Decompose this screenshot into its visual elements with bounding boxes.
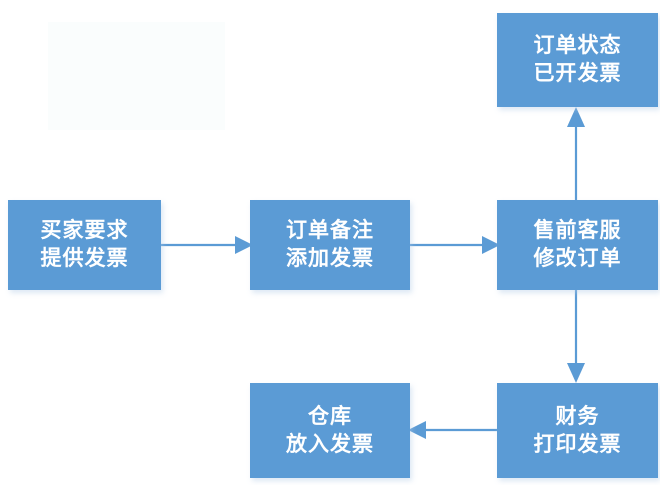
node-label-line-1: 买家要求 (41, 217, 129, 245)
node-label-line-2: 打印发票 (534, 431, 622, 459)
node-label-line-2: 已开发票 (534, 60, 622, 88)
node-label-line-2: 放入发票 (286, 431, 374, 459)
node-order-status[interactable]: 订单状态 已开发票 (497, 13, 658, 107)
node-label-line-1: 订单状态 (534, 32, 622, 60)
node-finance-print[interactable]: 财务 打印发票 (497, 383, 658, 478)
node-label-line-2: 添加发票 (286, 245, 374, 273)
arrowhead-up-icon (567, 107, 585, 127)
node-warehouse-insert[interactable]: 仓库 放入发票 (250, 383, 410, 478)
node-label-line-1: 售前客服 (534, 217, 622, 245)
connector-buyer-to-order-note (161, 233, 253, 257)
node-label-line-1: 财务 (556, 403, 600, 431)
node-order-note[interactable]: 订单备注 添加发票 (250, 200, 410, 290)
connector-presale-to-order-status (565, 105, 587, 202)
flowchart-canvas: 买家要求 提供发票 订单备注 添加发票 售前客服 修改订单 订单状态 已开发票 … (0, 0, 660, 485)
blank-placeholder-panel (48, 22, 225, 130)
node-label-line-2: 修改订单 (534, 245, 622, 273)
node-label-line-1: 仓库 (308, 403, 352, 431)
node-label-line-2: 提供发票 (41, 245, 129, 273)
arrowhead-left-icon (408, 421, 426, 439)
node-label-line-1: 订单备注 (286, 217, 374, 245)
node-presale-service[interactable]: 售前客服 修改订单 (497, 200, 658, 290)
connector-order-note-to-presale (410, 233, 500, 257)
connector-presale-to-finance (565, 289, 587, 385)
arrowhead-down-icon (567, 363, 585, 383)
connector-finance-to-warehouse (408, 418, 500, 442)
node-buyer-request[interactable]: 买家要求 提供发票 (8, 200, 161, 290)
